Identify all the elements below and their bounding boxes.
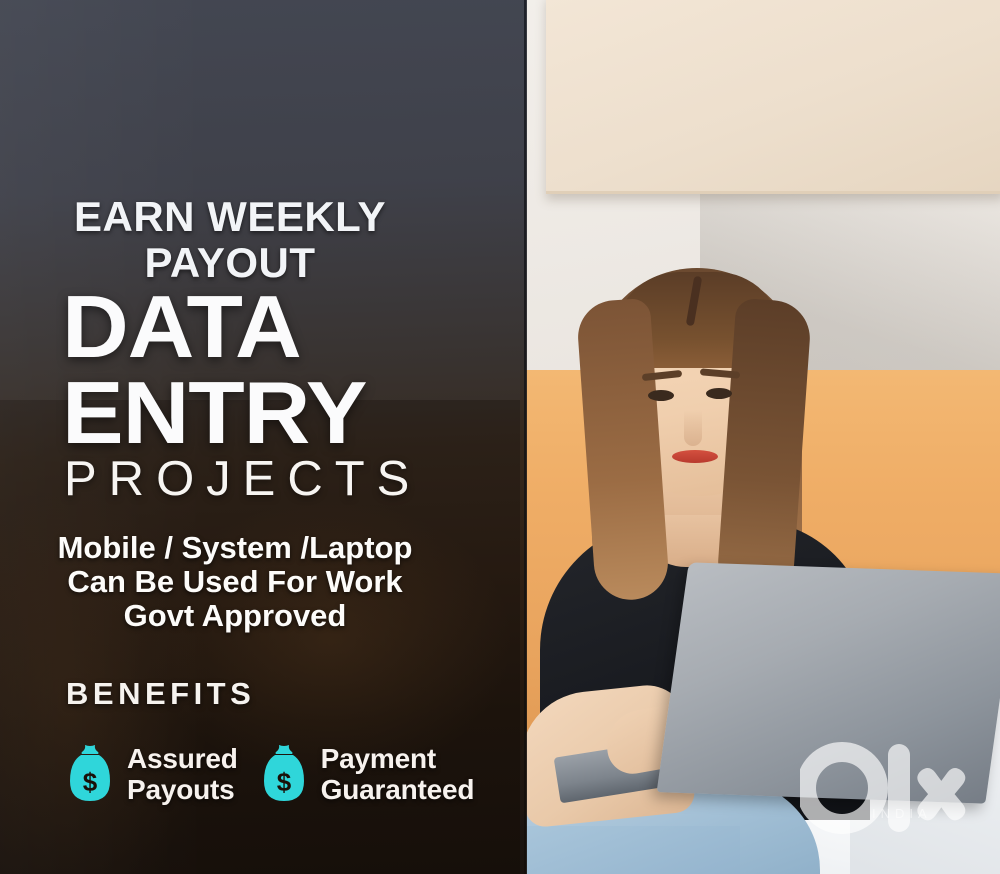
- benefit-label-line-2: Payouts: [127, 774, 238, 805]
- olx-watermark-logo: [800, 738, 980, 838]
- wall-canvas-art: [546, 0, 1000, 194]
- subtext-line-2: Can Be Used For Work: [0, 566, 470, 598]
- job-ad-poster: EARN WEEKLY PAYOUT DATA ENTRY PROJECTS M…: [0, 0, 1000, 874]
- svg-text:$: $: [276, 767, 291, 797]
- benefits-list: $ Assured Payouts $ Payment Guaranteed: [66, 742, 474, 806]
- subtext-line-3: Govt Approved: [0, 600, 470, 632]
- person-nose: [684, 410, 702, 446]
- benefits-heading: BENEFITS: [66, 676, 255, 712]
- title-line-projects: PROJECTS: [64, 455, 421, 504]
- title-line-entry: ENTRY: [62, 372, 366, 455]
- benefit-item-assured-payouts: $ Assured Payouts: [66, 742, 238, 806]
- benefit-label-payment-guaranteed: Payment Guaranteed: [321, 743, 475, 806]
- person-jeans-lower: [520, 826, 740, 874]
- money-bag-icon: $: [260, 742, 308, 806]
- ad-text-content: EARN WEEKLY PAYOUT DATA ENTRY PROJECTS M…: [0, 0, 526, 874]
- benefit-item-payment-guaranteed: $ Payment Guaranteed: [260, 742, 475, 806]
- benefit-label-line-1: Assured: [127, 743, 238, 774]
- benefit-label-line-2: Guaranteed: [321, 774, 475, 805]
- subtext-line-1: Mobile / System /Laptop: [0, 532, 470, 564]
- person-eye-right: [706, 388, 732, 399]
- olx-watermark-region: INDIA: [872, 806, 932, 821]
- svg-text:$: $: [83, 767, 98, 797]
- benefit-label-line-1: Payment: [321, 743, 475, 774]
- headline-line-1: EARN WEEKLY: [0, 196, 460, 238]
- benefit-label-assured-payouts: Assured Payouts: [127, 743, 238, 806]
- person-lips: [672, 450, 718, 463]
- money-bag-icon: $: [66, 742, 114, 806]
- title-line-data: DATA: [62, 286, 301, 369]
- person-eye-left: [648, 390, 674, 401]
